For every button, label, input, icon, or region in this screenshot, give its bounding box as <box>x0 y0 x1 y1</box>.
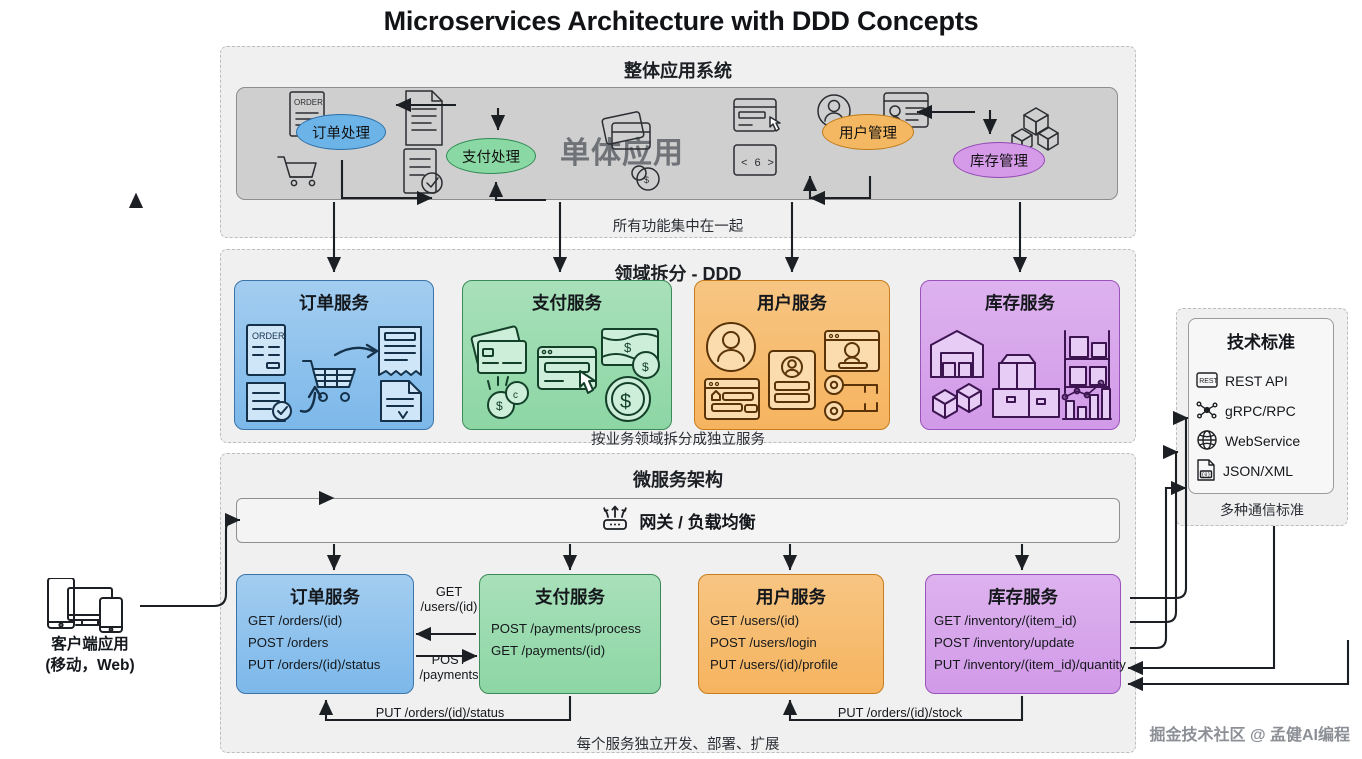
svg-text:{0}: {0} <box>1201 472 1210 478</box>
svg-text:$: $ <box>644 175 649 185</box>
ddd-card-inventory[interactable]: 库存服务 <box>920 280 1120 430</box>
monolith-node-user: 用户管理 <box>822 114 914 150</box>
ddd-card-inventory-icons <box>921 319 1119 423</box>
ddd-card-inventory-title: 库存服务 <box>921 290 1119 315</box>
endpoint: POST /orders <box>248 635 407 650</box>
document-check-icon <box>381 381 421 421</box>
tech-item-webservice-label: WebService <box>1225 433 1300 449</box>
watermark: 掘金技术社区 @ 孟健AI编程 <box>1150 721 1351 745</box>
micro-service-payment-endpoints: POST /payments/process GET /payments/(id… <box>491 621 654 658</box>
ddd-card-user-title: 用户服务 <box>695 290 889 315</box>
endpoint: POST /payments/process <box>491 621 654 636</box>
micro-service-order-endpoints: GET /orders/(id) POST /orders PUT /order… <box>248 613 407 672</box>
svg-text:$: $ <box>642 360 649 374</box>
login-form-icon <box>705 379 759 419</box>
monolith-node-inventory: 库存管理 <box>953 142 1045 178</box>
micro-service-user-title: 用户服务 <box>699 584 883 609</box>
svg-text:$: $ <box>624 340 632 355</box>
payment-form-icon <box>538 347 596 393</box>
ddd-card-payment[interactable]: 支付服务 $ c <box>462 280 672 430</box>
monolith-node-user-label: 用户管理 <box>839 122 897 143</box>
monolith-node-order: 订单处理 <box>296 114 386 150</box>
endpoint: POST /inventory/update <box>934 635 1114 650</box>
ddd-card-order-title: 订单服务 <box>235 290 433 315</box>
profile-card-icon <box>769 351 815 409</box>
endpoint: GET /payments/(id) <box>491 643 654 658</box>
coins-icon: $ c <box>488 377 528 418</box>
arrow-label-put-order-stock: PUT /orders/(id)/stock <box>795 705 1005 720</box>
arrow-label-get-users: GET /users/(id) <box>418 584 480 614</box>
section-monolith-caption: 所有功能集中在一起 <box>220 215 1136 236</box>
tech-item-rest-label: REST API <box>1225 373 1288 389</box>
order-doc-icon: ORDER <box>247 325 285 375</box>
section-micro-caption: 每个服务独立开发、部署、扩展 <box>220 733 1136 754</box>
keys-icon <box>825 376 877 420</box>
warehouse-icon <box>931 331 983 377</box>
rpc-nodes-icon <box>1196 400 1218 423</box>
endpoint: GET /users/(id) <box>710 613 877 628</box>
micro-service-inventory[interactable]: 库存服务 GET /inventory/(item_id) POST /inve… <box>925 574 1121 694</box>
ddd-card-payment-title: 支付服务 <box>463 290 671 315</box>
router-icon <box>600 503 630 538</box>
micro-service-inventory-endpoints: GET /inventory/(item_id) POST /inventory… <box>934 613 1114 672</box>
client-label: 客户端应用 (移动，Web) <box>0 635 180 677</box>
micro-service-order-title: 订单服务 <box>237 584 413 609</box>
credit-card-icon <box>471 326 526 373</box>
tech-item-rest[interactable]: REST REST API <box>1196 368 1332 394</box>
json-file-icon: {0} <box>1196 459 1216 484</box>
tech-item-webservice[interactable]: WebService <box>1196 428 1332 454</box>
monolith-node-payment: 支付处理 <box>446 138 536 174</box>
user-avatar-icon <box>707 323 755 371</box>
monolith-node-inventory-label: 库存管理 <box>970 150 1028 171</box>
banknote-icon: $ $ <box>602 329 659 378</box>
endpoint: GET /orders/(id) <box>248 613 407 628</box>
svg-text:$: $ <box>496 399 503 413</box>
micro-service-payment[interactable]: 支付服务 POST /payments/process GET /payment… <box>479 574 661 694</box>
arrow-cart-in <box>301 387 321 412</box>
client-label-line2: (移动，Web) <box>0 656 180 677</box>
section-ddd-caption: 按业务领域拆分成独立服务 <box>220 428 1136 449</box>
micro-service-inventory-title: 库存服务 <box>926 584 1120 609</box>
svg-text:ORDER: ORDER <box>252 331 285 341</box>
section-micro-title: 微服务架构 <box>220 466 1136 492</box>
tech-item-json[interactable]: {0} JSON/XML <box>1196 458 1332 484</box>
ddd-card-user[interactable]: 用户服务 <box>694 280 890 430</box>
endpoint: POST /users/login <box>710 635 877 650</box>
micro-service-payment-title: 支付服务 <box>480 584 660 609</box>
endpoint: GET /inventory/(item_id) <box>934 613 1114 628</box>
ddd-card-user-icons <box>695 319 889 423</box>
section-monolith-title: 整体应用系统 <box>220 57 1136 83</box>
arrow-label-post-payments: POST /payments <box>418 652 480 682</box>
arrow-label-put-order-status: PUT /orders/(id)/status <box>335 705 545 720</box>
id-badge-icon <box>825 331 879 371</box>
tech-standards-title: 技术标准 <box>1188 328 1334 353</box>
micro-service-user[interactable]: 用户服务 GET /users/(id) POST /users/login P… <box>698 574 884 694</box>
globe-icon <box>1196 429 1218 454</box>
tech-standards-caption: 多种通信标准 <box>1176 500 1348 520</box>
ddd-card-order[interactable]: 订单服务 ORDER <box>234 280 434 430</box>
endpoint: PUT /orders/(id)/status <box>248 657 407 672</box>
micro-service-user-endpoints: GET /users/(id) POST /users/login PUT /u… <box>710 613 877 672</box>
gateway-label: 网关 / 负载均衡 <box>639 508 755 533</box>
gateway-bar[interactable]: 网关 / 负载均衡 <box>236 498 1120 543</box>
svg-text:< 6 >: < 6 > <box>741 158 774 170</box>
svg-text:ORDER: ORDER <box>294 98 323 107</box>
micro-service-order[interactable]: 订单服务 GET /orders/(id) POST /orders PUT /… <box>236 574 414 694</box>
ddd-card-payment-icons: $ c $ <box>463 319 671 423</box>
rest-badge-icon: REST <box>1196 372 1218 391</box>
receipt-icon <box>379 327 421 375</box>
dollar-coin-icon: $ <box>606 377 650 421</box>
tech-item-grpc-label: gRPC/RPC <box>1225 403 1296 419</box>
arrow-cart-out <box>335 345 377 357</box>
svg-text:c: c <box>513 390 518 401</box>
monolith-node-payment-label: 支付处理 <box>462 146 520 167</box>
tech-item-grpc[interactable]: gRPC/RPC <box>1196 398 1332 424</box>
ddd-card-order-icons: ORDER <box>235 319 433 423</box>
svg-text:REST: REST <box>1199 378 1218 385</box>
endpoint: PUT /users/(id)/profile <box>710 657 877 672</box>
devices-icon <box>44 578 140 639</box>
svg-text:$: $ <box>620 391 631 413</box>
boxes-icon <box>933 384 981 418</box>
page-title: Microservices Architecture with DDD Conc… <box>0 6 1362 37</box>
client-label-line1: 客户端应用 <box>0 635 180 656</box>
monolith-node-order-label: 订单处理 <box>312 122 370 143</box>
endpoint: PUT /inventory/(item_id)/quantity <box>934 657 1114 672</box>
tech-item-json-label: JSON/XML <box>1223 463 1293 479</box>
checklist-icon <box>247 383 291 421</box>
package-icon <box>993 355 1059 417</box>
diagram-canvas: Microservices Architecture with DDD Conc… <box>0 0 1362 759</box>
